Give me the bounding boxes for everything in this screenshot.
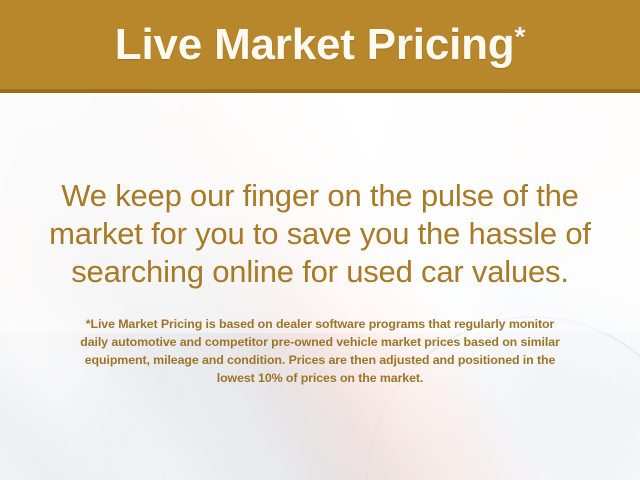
page-title: Live Market Pricing* [0,0,640,89]
fineprint-line-3: equipment, mileage and condition. Prices… [28,351,612,369]
live-market-pricing-banner: Live Market Pricing* We keep our finger … [0,0,640,480]
fineprint-disclaimer: *Live Market Pricing is based on dealer … [28,315,612,387]
page-title-text: Live Market Pricing [115,23,515,67]
fineprint-line-1: *Live Market Pricing is based on dealer … [28,315,612,333]
fineprint-line-2: daily automotive and competitor pre-owne… [28,333,612,351]
header-bottom-rule [0,89,640,93]
headline: We keep our finger on the pulse of the m… [26,177,614,291]
banner-content: We keep our finger on the pulse of the m… [0,93,640,480]
fineprint-line-4: lowest 10% of prices on the market. [28,369,612,387]
headline-line-3: searching online for used car values. [26,253,614,291]
headline-line-2: market for you to save you the hassle of [26,215,614,253]
headline-line-1: We keep our finger on the pulse of the [26,177,614,215]
